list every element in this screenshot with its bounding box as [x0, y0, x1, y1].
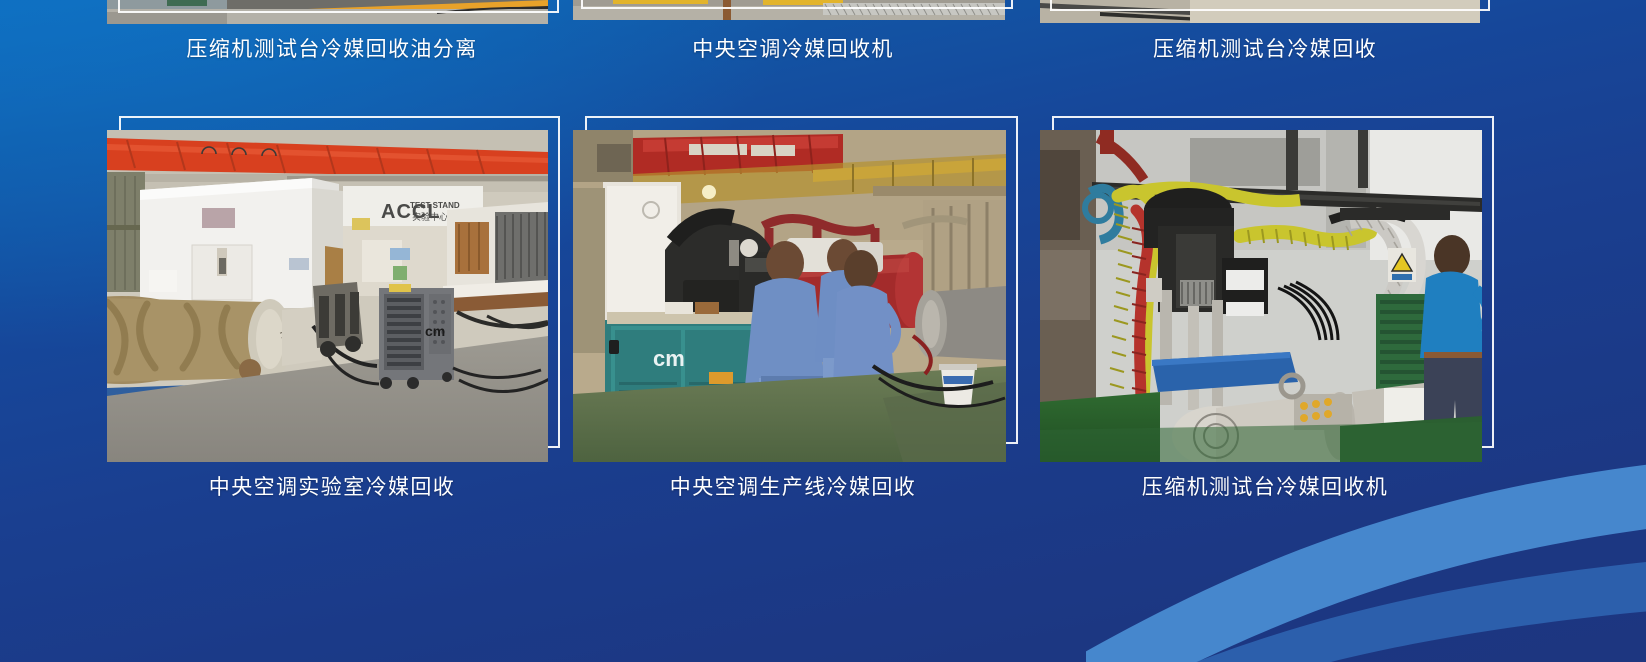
svg-text:cm: cm	[653, 346, 685, 371]
gallery-photo-bottom-2: cm	[573, 130, 1006, 462]
photo-grid: 压缩机测试台冷媒回收油分离	[0, 0, 1646, 662]
gallery-card-top-3[interactable]: 压缩机测试台冷媒回收	[1040, 0, 1490, 72]
gallery-photo-bottom-3	[1040, 130, 1482, 462]
gallery-page: 压缩机测试台冷媒回收油分离	[0, 0, 1646, 662]
svg-text:TEST STAND: TEST STAND	[410, 201, 460, 210]
gallery-photo-bottom-1: TIM ACCL TEST STAND 实验中心	[107, 130, 548, 462]
gallery-caption-bottom-2: 中央空调生产线冷媒回收	[573, 471, 1013, 501]
gallery-frame-top-2	[581, 0, 1013, 9]
gallery-card-top-1[interactable]: 压缩机测试台冷媒回收油分离	[107, 0, 559, 72]
svg-text:cm: cm	[425, 323, 445, 339]
svg-text:实验中心: 实验中心	[412, 211, 448, 222]
gallery-card-bottom-2[interactable]: cm	[573, 116, 1013, 496]
gallery-frame-top-3	[1050, 0, 1490, 11]
gallery-caption-top-2: 中央空调冷媒回收机	[573, 33, 1013, 63]
gallery-card-bottom-3[interactable]: 压缩机测试台冷媒回收机	[1040, 116, 1490, 496]
gallery-card-top-2[interactable]: 中央空调冷媒回收机	[573, 0, 1013, 72]
gallery-caption-bottom-3: 压缩机测试台冷媒回收机	[1030, 471, 1500, 501]
gallery-card-bottom-1[interactable]: TIM ACCL TEST STAND 实验中心	[107, 116, 559, 496]
gallery-caption-top-3: 压缩机测试台冷媒回收	[1030, 33, 1500, 63]
gallery-frame-top-1	[118, 0, 559, 13]
gallery-caption-bottom-1: 中央空调实验室冷媒回收	[102, 471, 562, 501]
gallery-caption-top-1: 压缩机测试台冷媒回收油分离	[102, 33, 562, 63]
